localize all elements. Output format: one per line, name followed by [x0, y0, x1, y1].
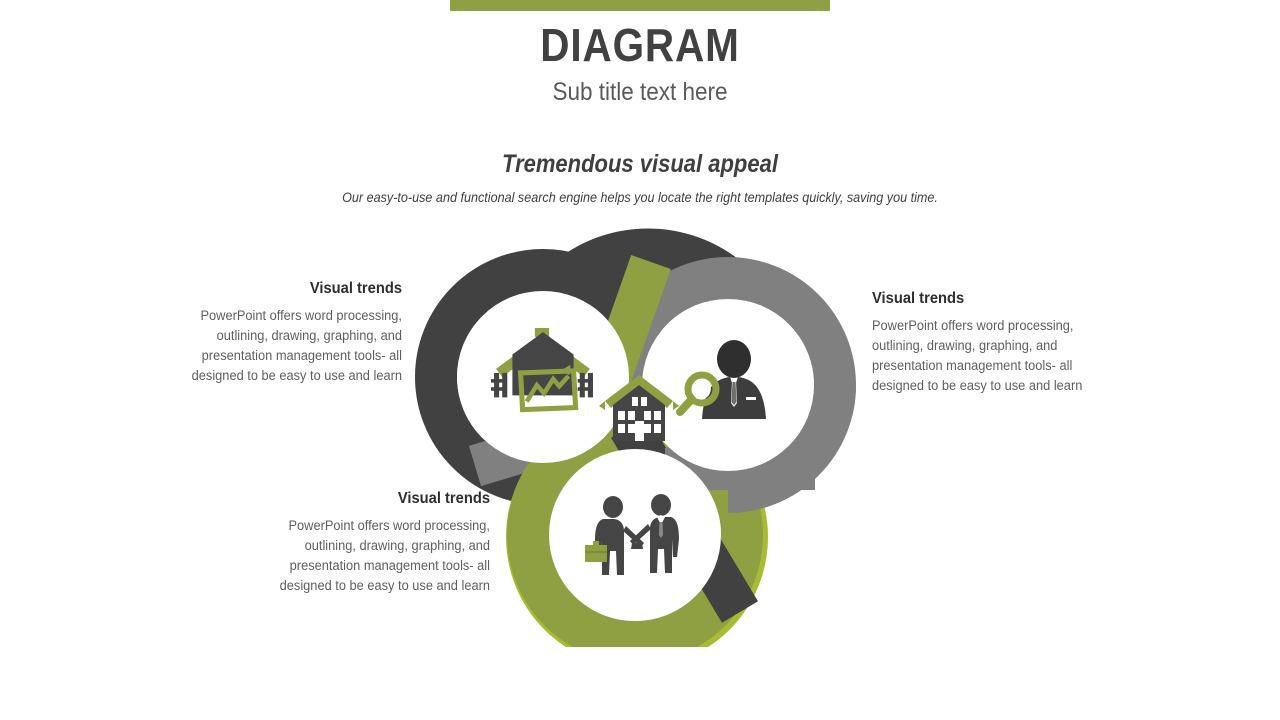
page-title: DIAGRAM — [77, 22, 1203, 68]
page-subtitle: Sub title text here — [64, 78, 1216, 107]
clasped-hands — [631, 543, 643, 549]
interlocking-loops-diagram — [415, 222, 870, 647]
door — [635, 421, 644, 441]
callout-top-left: Visual trends PowerPoint offers word pro… — [140, 280, 402, 386]
top-accent-bar — [450, 0, 830, 11]
section-block: Tremendous visual appeal Our easy-to-use… — [0, 150, 1280, 205]
person-head — [717, 340, 751, 378]
callout-title: Visual trends — [872, 290, 1113, 308]
section-subheading: Our easy-to-use and functional search en… — [64, 189, 1216, 205]
slide: DIAGRAM Sub title text here Tremendous v… — [0, 0, 1280, 720]
callout-right: Visual trends PowerPoint offers word pro… — [872, 290, 1134, 396]
title-block: DIAGRAM Sub title text here — [0, 22, 1280, 107]
section-heading: Tremendous visual appeal — [77, 150, 1203, 179]
callout-body: PowerPoint offers word processing, outli… — [153, 306, 402, 386]
callout-title: Visual trends — [161, 280, 402, 298]
callout-body: PowerPoint offers word processing, outli… — [872, 316, 1121, 396]
